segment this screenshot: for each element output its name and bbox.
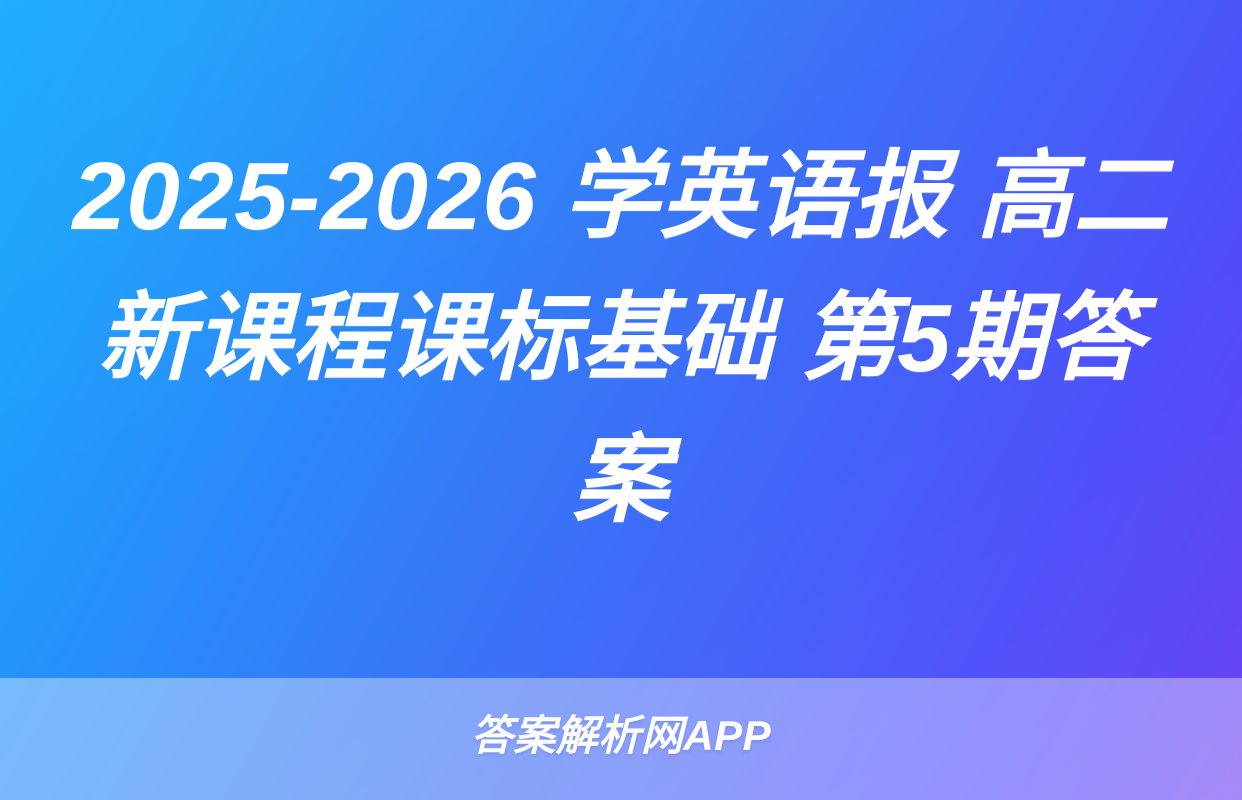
page-title: 2025-2026 学英语报 高二 新课程课标基础 第5期答案 [56,126,1186,552]
cover-canvas: 2025-2026 学英语报 高二 新课程课标基础 第5期答案 答案解析网APP [0,0,1242,800]
title-block: 2025-2026 学英语报 高二 新课程课标基础 第5期答案 [0,0,1242,678]
app-brand-label: 答案解析网APP [471,715,771,757]
footer-brand-bar: 答案解析网APP [0,678,1242,800]
